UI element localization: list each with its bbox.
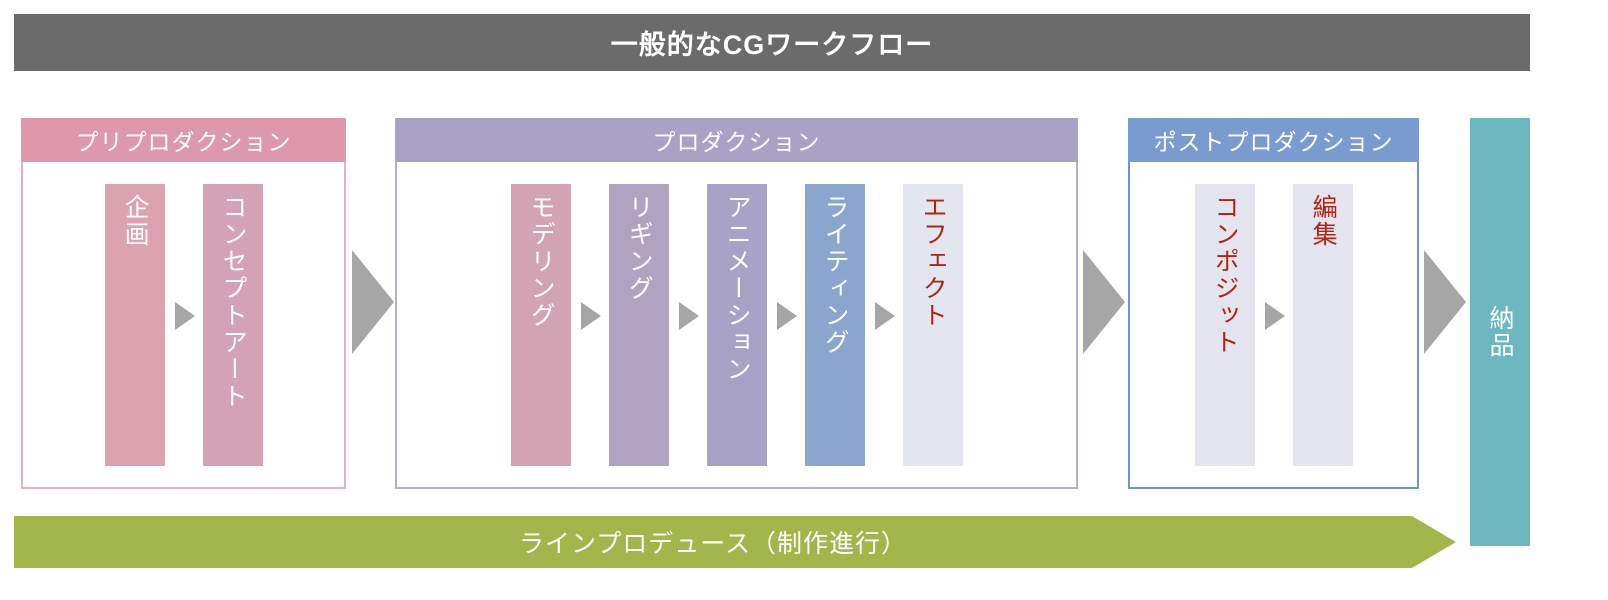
diagram-title-bar: 一般的なCGワークフロー [14,14,1530,71]
line-produce-arrow: ラインプロデュース（制作進行） [14,516,1456,568]
step-rigging[interactable]: リギング [609,184,669,466]
step-label-animation: アニメーション [724,194,750,383]
connector-arrow-prod-3 [777,302,797,330]
step-label-rigging: リギング [626,194,652,302]
phase-pre-production: プリプロダクション 企画 コンセプトアート [21,118,346,489]
diagram-title-text: 一般的なCGワークフロー [611,23,934,62]
phase-post-production: ポストプロダクション コンポジット 編集 [1128,118,1419,489]
step-label-lighting: ライティング [822,194,848,356]
step-label-modeling: モデリング [528,194,554,329]
step-lighting[interactable]: ライティング [805,184,865,466]
phase-header-label-production: プロダクション [653,123,821,157]
step-effects[interactable]: エフェクト [903,184,963,466]
phase-body-post-production: コンポジット 編集 [1128,162,1419,489]
phase-production: プロダクション モデリング リギング アニメーション [395,118,1078,489]
connector-arrow-pre-1 [175,302,195,330]
line-produce-label: ラインプロデュース（制作進行） [519,524,907,560]
phase-body-production: モデリング リギング アニメーション ライティング [395,162,1078,489]
phase-header-label-post-production: ポストプロダクション [1154,123,1394,157]
connector-arrow-prod-1 [581,302,601,330]
step-kikaku[interactable]: 企画 [105,184,165,466]
connector-arrow-phase-1 [352,250,394,354]
step-edit[interactable]: 編集 [1293,184,1353,466]
connector-arrow-prod-4 [875,302,895,330]
delivery-label: 納品 [1482,305,1518,359]
delivery-bar[interactable]: 納品 [1470,118,1530,546]
connector-arrow-phase-2 [1083,250,1125,354]
step-label-concept-art: コンセプトアート [220,194,246,410]
connector-arrow-phase-3 [1424,250,1466,354]
connector-arrow-post-1 [1265,302,1285,330]
step-composite[interactable]: コンポジット [1195,184,1255,466]
step-label-kikaku: 企画 [122,194,148,248]
phase-header-production: プロダクション [395,118,1078,162]
phase-header-post-production: ポストプロダクション [1128,118,1419,162]
phase-header-label-pre-production: プリプロダクション [76,123,292,157]
step-concept-art[interactable]: コンセプトアート [203,184,263,466]
step-animation[interactable]: アニメーション [707,184,767,466]
step-modeling[interactable]: モデリング [511,184,571,466]
step-label-composite: コンポジット [1212,194,1238,356]
phase-header-pre-production: プリプロダクション [21,118,346,162]
step-label-edit: 編集 [1310,194,1336,248]
phase-body-pre-production: 企画 コンセプトアート [21,162,346,489]
connector-arrow-prod-2 [679,302,699,330]
workflow-diagram: 一般的なCGワークフロー プリプロダクション 企画 コンセプトアート [0,0,1608,600]
step-label-effects: エフェクト [920,194,946,329]
